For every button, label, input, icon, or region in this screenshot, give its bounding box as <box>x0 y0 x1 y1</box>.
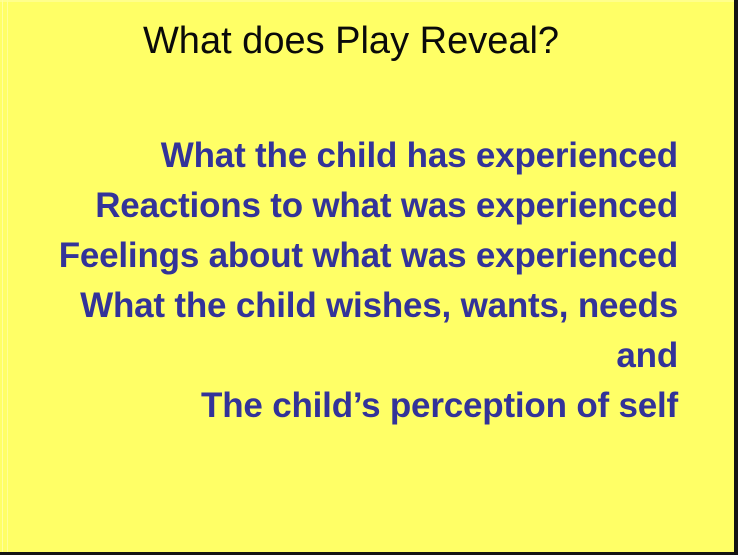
presentation-slide: What does Play Reveal? What the child ha… <box>0 0 738 555</box>
slide-left-edge-highlight-secondary <box>7 0 8 555</box>
list-item: What the child has experienced <box>20 131 678 181</box>
list-item: What the child wishes, wants, needs <box>20 281 678 331</box>
list-item: Reactions to what was experienced <box>20 181 678 231</box>
slide-body-list: What the child has experienced Reactions… <box>20 131 678 431</box>
list-item: and <box>20 331 678 381</box>
list-item: Feelings about what was experienced <box>20 231 678 281</box>
slide-title: What does Play Reveal? <box>0 18 738 64</box>
slide-top-edge <box>0 0 738 2</box>
list-item: The child’s perception of self <box>20 381 678 431</box>
slide-left-edge-highlight <box>2 0 3 555</box>
slide-right-border <box>734 0 738 555</box>
